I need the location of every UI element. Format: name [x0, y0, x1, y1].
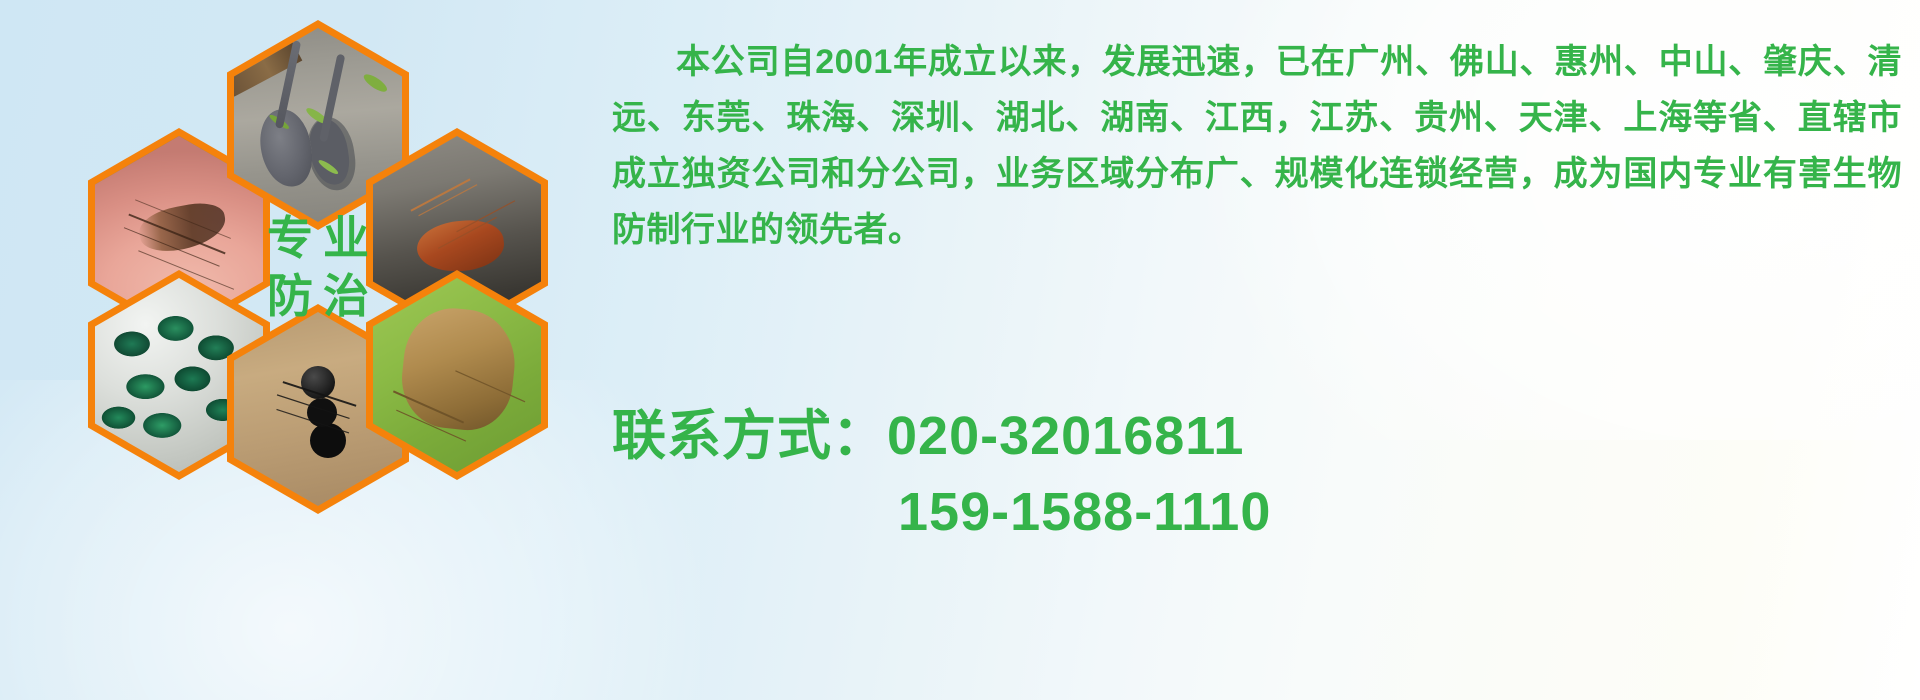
slogan-text: 专业 防治	[234, 170, 402, 364]
contact-block: 联系方式：020-32016811 159-1588-1110	[612, 398, 1902, 550]
contact-phone-mobile[interactable]: 159-1588-1110	[898, 482, 1271, 542]
contact-phone-landline[interactable]: 020-32016811	[887, 406, 1244, 466]
honeycomb-gallery: 专业 防治	[88, 0, 588, 560]
contact-line-secondary: 159-1588-1110	[612, 474, 1902, 550]
rodent-photo-wood-plank	[234, 38, 303, 97]
intro-copy-block: 本公司自2001年成立以来，发展迅速，已在广州、佛山、惠州、中山、肇庆、清远、东…	[612, 34, 1902, 258]
company-intro-paragraph: 本公司自2001年成立以来，发展迅速，已在广州、佛山、惠州、中山、肇庆、清远、东…	[612, 34, 1902, 258]
rodent-photo-leaf-debris	[361, 72, 389, 95]
slogan-line-1: 专业	[257, 215, 379, 261]
slogan-line-2: 防治	[257, 273, 379, 319]
contact-label: 联系方式：	[612, 406, 887, 466]
contact-line-primary: 联系方式：020-32016811	[612, 398, 1902, 474]
hex-slogan-inner: 专业 防治	[234, 170, 402, 364]
pest-control-banner: 专业 防治 本公司自2001年成立以来，发展迅速，已在广州、佛山、惠州、中山、肇…	[0, 0, 1920, 700]
